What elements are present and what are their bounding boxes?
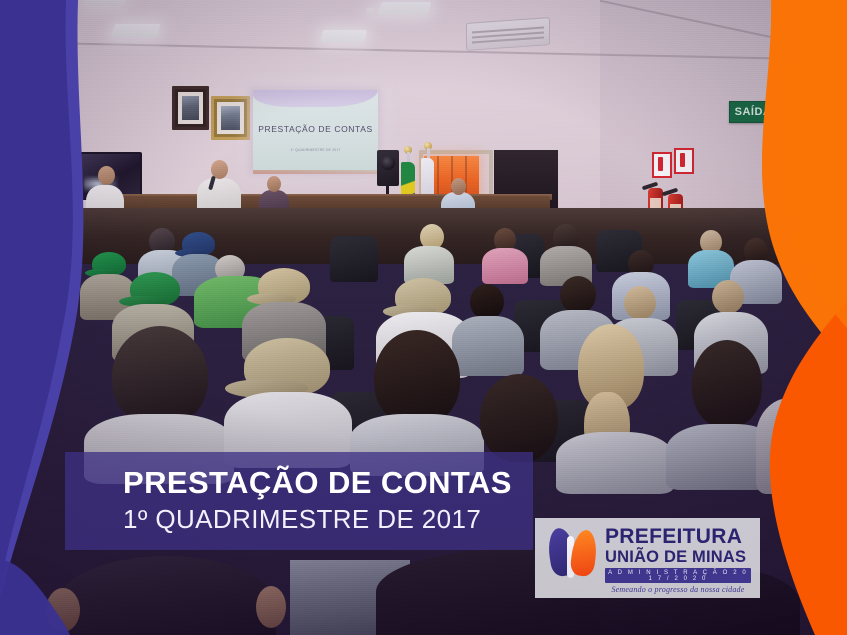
ceiling-light: [321, 30, 367, 42]
framed-portrait: [172, 86, 209, 130]
ceiling-light: [379, 2, 432, 14]
flame-orange-icon: [569, 529, 598, 578]
framed-portrait: [211, 96, 250, 140]
baseball-cap-green: [130, 272, 180, 306]
logo-line-administration: A D M I N I S T R A Ç Ã O 2 0 1 7 / 2 0 …: [605, 568, 751, 583]
poster-title: PRESTAÇÃO DE CONTAS: [123, 466, 512, 500]
slide-header-band: [253, 90, 378, 107]
logo-panel: PREFEITURA UNIÃO DE MINAS A D M I N I S …: [535, 518, 760, 598]
foreground-head: [480, 374, 558, 462]
ceiling-light: [111, 24, 161, 37]
baseball-cap-beige: [244, 338, 330, 396]
logo-tagline: Semeando o progresso da nossa cidade: [605, 585, 751, 594]
screen-lower-edge: [253, 170, 378, 174]
baseball-cap-green: [92, 252, 126, 276]
fire-extinguisher-sign: [674, 148, 694, 174]
audience-body: [452, 316, 524, 376]
audience-head: [712, 280, 744, 314]
title-banner: PRESTAÇÃO DE CONTAS 1º QUADRIMESTRE DE 2…: [65, 452, 533, 550]
baseball-cap-beige: [258, 268, 310, 304]
audience-head: [692, 340, 762, 428]
ceiling-light-small: [366, 8, 374, 16]
audience-head: [470, 284, 504, 320]
poster-canvas: PRESTAÇÃO DE CONTAS 1º QUADRIMESTRE DE 2…: [0, 0, 847, 635]
fire-extinguisher-sign: [652, 152, 672, 178]
ceiling-light: [83, 0, 126, 6]
logo-text-block: PREFEITURA UNIÃO DE MINAS A D M I N I S …: [605, 526, 751, 594]
baseball-cap-navy: [182, 232, 215, 256]
audience-head-blond: [624, 286, 656, 320]
exit-sign-label: SAÍDA: [735, 106, 772, 118]
air-conditioner: [466, 17, 550, 51]
logo-line-prefeitura: PREFEITURA: [605, 526, 751, 548]
ear: [46, 588, 80, 632]
projected-slide-subtitle: 1º QUADRIMESTRE DE 2017: [253, 148, 378, 152]
seated-person-head: [451, 178, 466, 195]
audience-body: [756, 398, 840, 494]
chair: [330, 236, 378, 282]
audience-body: [482, 248, 528, 284]
audience-head: [560, 276, 596, 314]
prefeitura-logo: PREFEITURA UNIÃO DE MINAS A D M I N I S …: [545, 526, 751, 590]
baseball-cap-beige: [395, 278, 451, 316]
exit-sign-saida: SAÍDA: [729, 101, 777, 123]
ear: [256, 586, 286, 628]
loudspeaker: [377, 150, 399, 186]
projected-slide-title: PRESTAÇÃO DE CONTAS: [253, 124, 378, 134]
audience-body: [556, 432, 674, 494]
projection-screen: PRESTAÇÃO DE CONTAS 1º QUADRIMESTRE DE 2…: [253, 90, 378, 172]
foreground-head-bottom: [56, 556, 276, 635]
foreground-head-dark-hair: [112, 326, 208, 426]
standing-person-head: [98, 166, 115, 185]
seated-person-head: [267, 176, 281, 192]
logo-line-municipality: UNIÃO DE MINAS: [605, 548, 751, 567]
foreground-head: [374, 330, 460, 426]
poster-subtitle: 1º QUADRIMESTRE DE 2017: [123, 504, 481, 534]
